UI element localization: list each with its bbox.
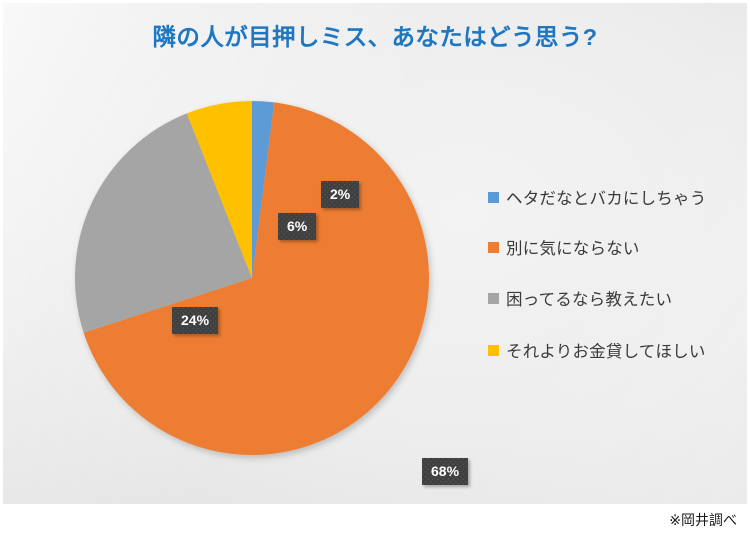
legend-item-2[interactable]: 困ってるなら教えたい [467,287,672,309]
legend-item-3[interactable]: それよりお金貸してほしい [467,339,706,361]
legend-swatch-yellow-icon [488,345,499,356]
source-note: ※岡井調べ [669,510,737,530]
data-label-blue-slice: 2% [321,181,359,208]
legend-label-3: それよりお金貸してほしい [506,338,706,362]
legend-label-0: ヘタだなとバカにしちゃう [506,185,706,209]
legend-item-0[interactable]: ヘタだなとバカにしちゃう [467,186,706,208]
legend-swatch-blue-icon [488,192,499,203]
legend-swatch-gray-icon [488,293,499,304]
legend-item-1[interactable]: 別に気にならない [467,236,640,258]
pie-slice-group [75,101,429,455]
chart-title: 隣の人が目押しミス、あなたはどう思う? [0,18,750,52]
chart-legend: ヘタだなとバカにしちゃう 別に気にならない 困ってるなら教えたい それよりお金貸… [467,172,732,380]
pie-graphic: 2% 6% 24% 68% [75,101,429,455]
legend-label-2: 困ってるなら教えたい [506,286,672,310]
data-label-yellow-slice: 6% [278,213,316,240]
legend-swatch-orange-icon [488,242,499,253]
data-label-orange-slice: 68% [422,458,468,485]
pie-svg [75,101,429,455]
data-label-gray-slice: 24% [172,307,218,334]
legend-label-1: 別に気にならない [506,235,640,259]
pie-chart-figure: 隣の人が目押しミス、あなたはどう思う? 2% 6% 24% 68% ヘタだなとバ… [0,0,750,544]
